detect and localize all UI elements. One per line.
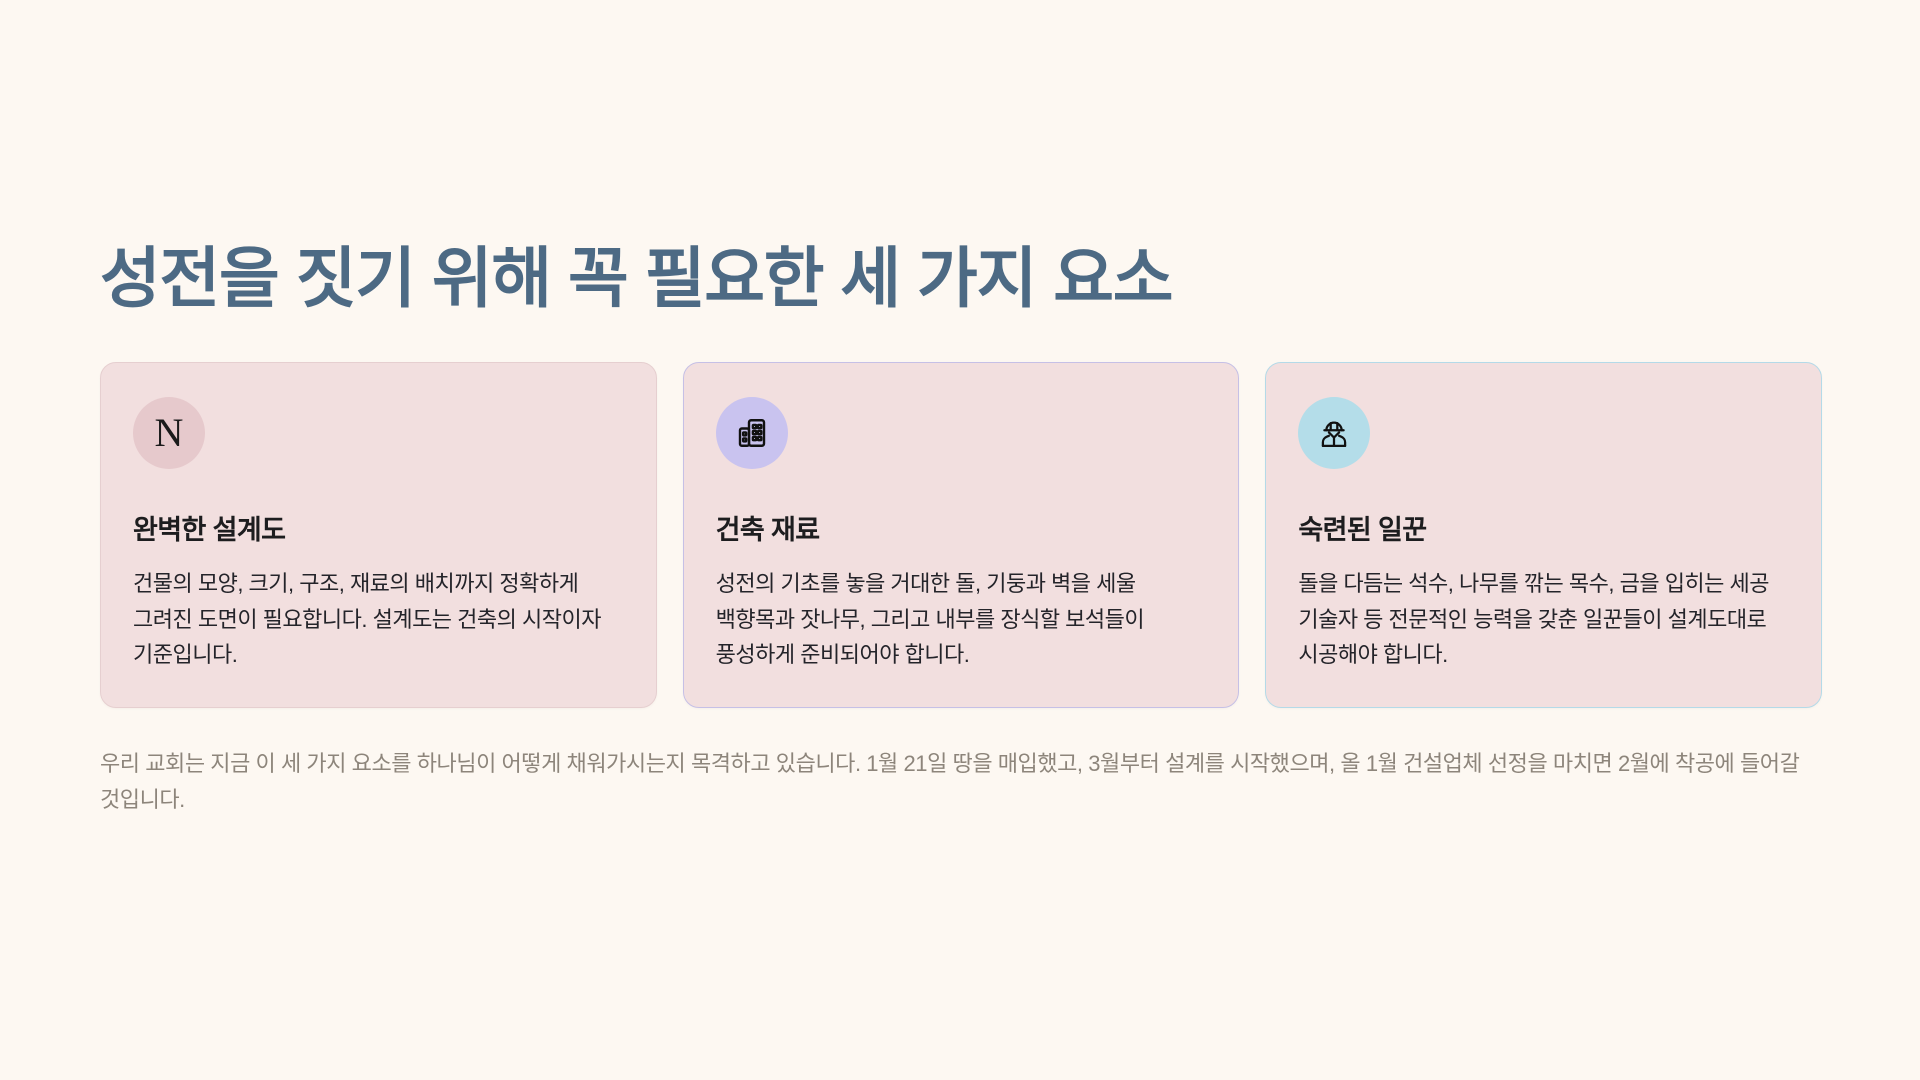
feature-card-materials[interactable]: 건축 재료 성전의 기초를 놓을 거대한 돌, 기둥과 벽을 세울 백향목과 잣… bbox=[683, 362, 1240, 708]
feature-card-description: 돌을 다듬는 석수, 나무를 깎는 목수, 금을 입히는 세공 기술자 등 전문… bbox=[1298, 566, 1791, 673]
feature-card-description: 건물의 모양, 크기, 구조, 재료의 배치까지 정확하게 그려진 도면이 필요… bbox=[133, 566, 626, 673]
buildings-icon bbox=[716, 397, 788, 469]
blueprint-icon-glyph: N bbox=[155, 413, 184, 453]
feature-card-list: N 완벽한 설계도 건물의 모양, 크기, 구조, 재료의 배치까지 정확하게 … bbox=[100, 362, 1822, 708]
footer-note: 우리 교회는 지금 이 세 가지 요소를 하나님이 어떻게 채워가시는지 목격하… bbox=[100, 746, 1800, 819]
slide-page: 성전을 짓기 위해 꼭 필요한 세 가지 요소 N 완벽한 설계도 건물의 모양… bbox=[0, 0, 1920, 1080]
feature-card-workers[interactable]: 숙련된 일꾼 돌을 다듬는 석수, 나무를 깎는 목수, 금을 입히는 세공 기… bbox=[1265, 362, 1822, 708]
feature-card-plans[interactable]: N 완벽한 설계도 건물의 모양, 크기, 구조, 재료의 배치까지 정확하게 … bbox=[100, 362, 657, 708]
slide-content: 성전을 짓기 위해 꼭 필요한 세 가지 요소 N 완벽한 설계도 건물의 모양… bbox=[100, 240, 1822, 819]
feature-card-title: 건축 재료 bbox=[716, 513, 1209, 548]
blueprint-icon: N bbox=[133, 397, 205, 469]
feature-card-title: 완벽한 설계도 bbox=[133, 513, 626, 548]
page-title: 성전을 짓기 위해 꼭 필요한 세 가지 요소 bbox=[100, 240, 1822, 318]
feature-card-title: 숙련된 일꾼 bbox=[1298, 513, 1791, 548]
feature-card-description: 성전의 기초를 놓을 거대한 돌, 기둥과 벽을 세울 백향목과 잣나무, 그리… bbox=[716, 566, 1209, 673]
construction-worker-icon bbox=[1298, 397, 1370, 469]
